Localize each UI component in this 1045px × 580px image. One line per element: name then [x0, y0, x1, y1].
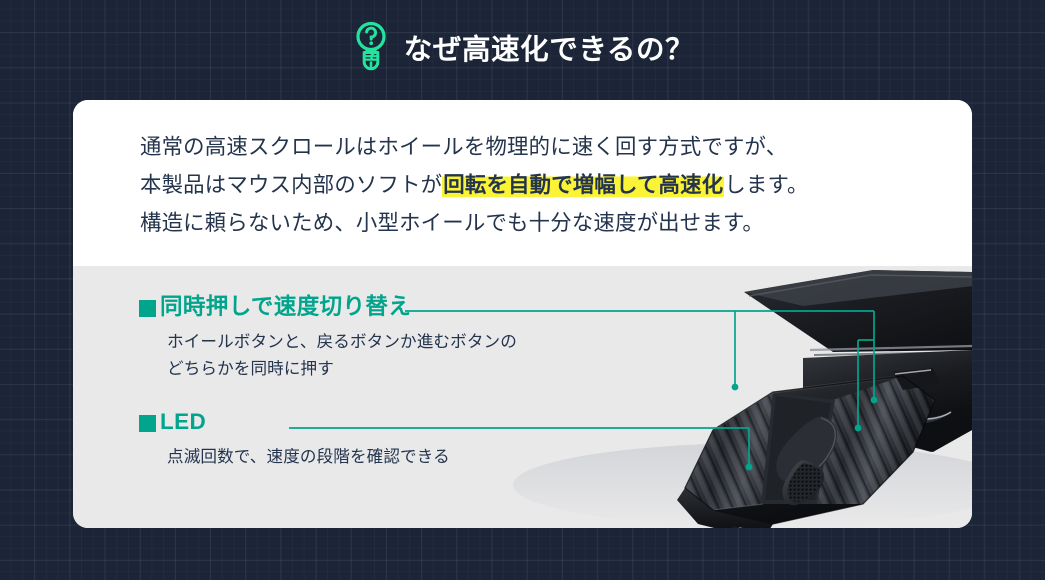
feature-block-led: LED 点滅回数で、速度の段階を確認できる	[139, 411, 450, 470]
page-title: なぜ高速化できるの？	[404, 36, 694, 65]
feature-2-heading: LED	[139, 411, 450, 434]
feature-1-body-line-2: どちらかを同時に押す	[167, 355, 517, 382]
square-bullet-icon	[139, 300, 156, 317]
feature-2-title: LED	[160, 411, 206, 434]
question-lightbulb-icon	[351, 21, 391, 79]
info-card: 通常の高速スクロールはホイールを物理的に速く回す方式ですが、 本製品はマウス内部…	[73, 100, 972, 528]
feature-block-simultaneous-press: 同時押しで速度切り替え ホイールボタンと、戻るボタンか進むボタンの どちらかを同…	[139, 296, 517, 382]
lead-paragraph-line-1: 通常の高速スクロールはホイールを物理的に速く回す方式ですが、	[140, 128, 940, 166]
lead-line2-prefix: 本製品はマウス内部のソフトが	[140, 173, 442, 197]
page-root: なぜ高速化できるの？ 通常の高速スクロールはホイールを物理的に速く回す方式ですが…	[0, 0, 1045, 580]
lead-paragraph-line-2: 本製品はマウス内部のソフトが回転を自動で増幅して高速化します。	[140, 166, 940, 204]
lead-line2-suffix: します。	[724, 173, 808, 197]
square-bullet-icon	[139, 415, 156, 432]
feature-1-title: 同時押しで速度切り替え	[160, 296, 411, 319]
lead-line2-highlight: 回転を自動で増幅して高速化	[442, 173, 724, 197]
feature-2-body: 点滅回数で、速度の段階を確認できる	[167, 443, 450, 470]
feature-1-heading: 同時押しで速度切り替え	[139, 296, 517, 319]
feature-1-body-line-1: ホイールボタンと、戻るボタンか進むボタンの	[167, 328, 517, 355]
feature-2-body-line-1: 点滅回数で、速度の段階を確認できる	[167, 443, 450, 470]
page-title-row: なぜ高速化できるの？	[0, 14, 1045, 84]
feature-1-body: ホイールボタンと、戻るボタンか進むボタンの どちらかを同時に押す	[167, 328, 517, 382]
lead-paragraph: 通常の高速スクロールはホイールを物理的に速く回す方式ですが、 本製品はマウス内部…	[140, 128, 940, 242]
lead-paragraph-line-3: 構造に頼らないため、小型ホイールでも十分な速度が出せます。	[140, 204, 940, 242]
